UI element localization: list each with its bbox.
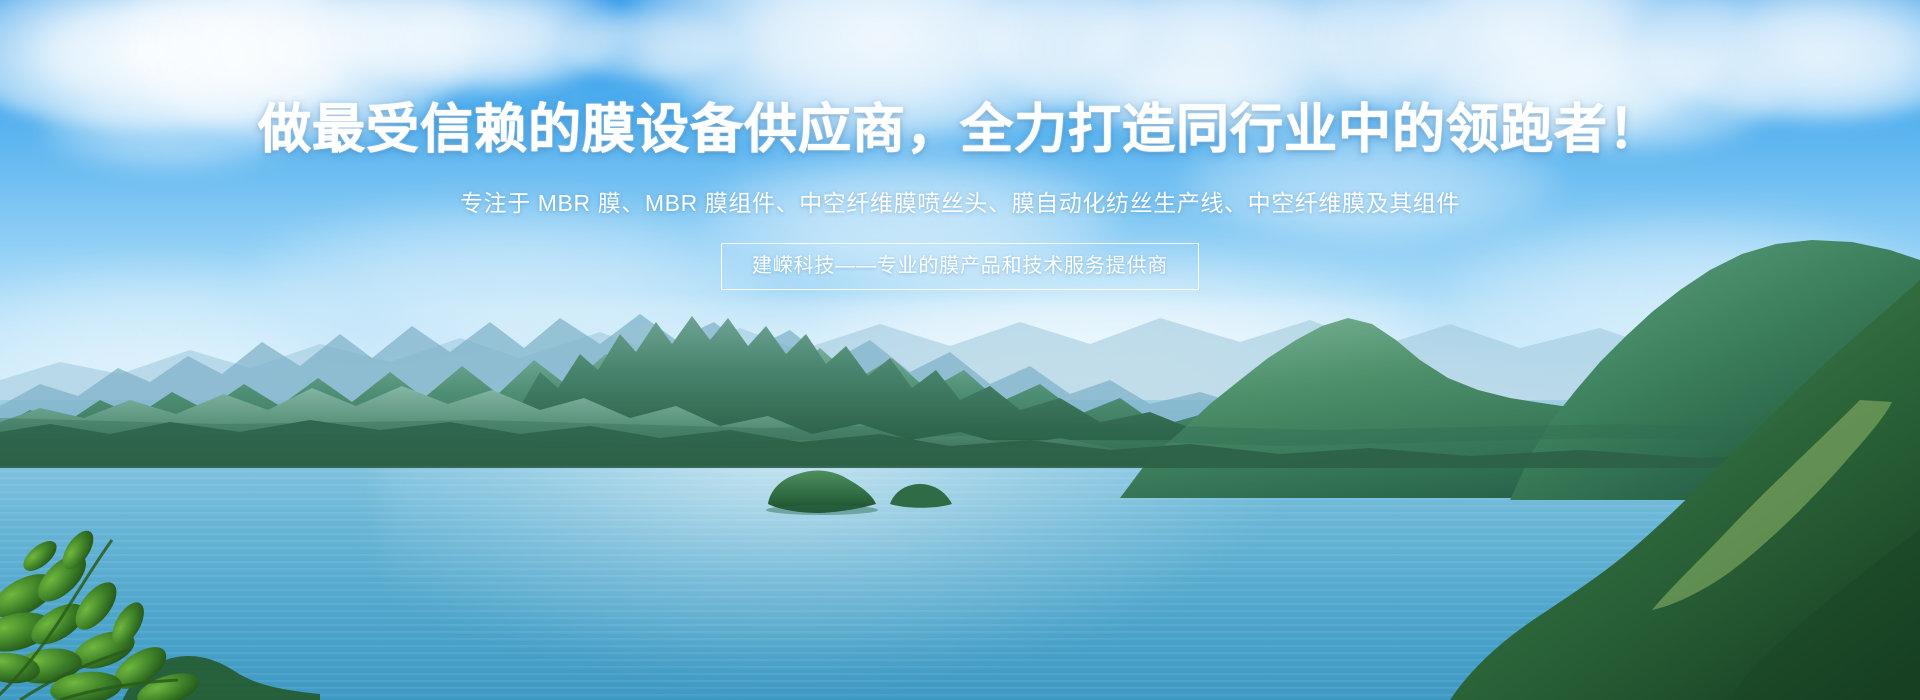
banner-subheadline: 专注于 MBR 膜、MBR 膜组件、中空纤维膜喷丝头、膜自动化纺丝生产线、中空纤…	[0, 186, 1920, 220]
banner-headline: 做最受信赖的膜设备供应商，全力打造同行业中的领跑者！	[0, 98, 1920, 162]
hero-banner: 做最受信赖的膜设备供应商，全力打造同行业中的领跑者！ 专注于 MBR 膜、MBR…	[0, 0, 1920, 700]
banner-text-overlay: 做最受信赖的膜设备供应商，全力打造同行业中的领跑者！ 专注于 MBR 膜、MBR…	[0, 0, 1920, 700]
banner-tagline-wrapper: 建嵘科技——专业的膜产品和技术服务提供商	[0, 243, 1920, 290]
banner-tagline: 建嵘科技——专业的膜产品和技术服务提供商	[721, 243, 1199, 290]
